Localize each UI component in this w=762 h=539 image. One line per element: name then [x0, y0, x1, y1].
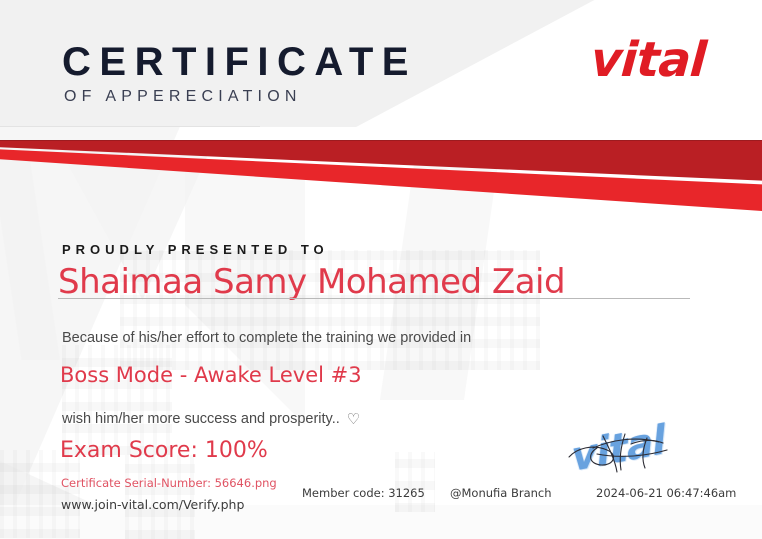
recipient-name: Shaimaa Samy Mohamed Zaid [58, 264, 565, 301]
issued-datetime: 2024-06-21 06:47:46am [596, 488, 736, 500]
certificate-serial: Certificate Serial-Number: 56646.png [61, 478, 277, 490]
page-title: CERTIFICATE [62, 42, 417, 82]
wish-line: wish him/her more success and prosperity… [62, 412, 360, 427]
certificate-page: CERTIFICATE OF APPERECIATION vital PROUD… [0, 0, 762, 539]
verify-url-link[interactable]: www.join-vital.com/Verify.php [61, 499, 244, 512]
course-name: Boss Mode - Awake Level #3 [60, 365, 362, 386]
branch-name: @Monufia Branch [450, 488, 552, 500]
reason-line: Because of his/her effort to complete th… [62, 331, 471, 346]
member-code: Member code: 31265 [302, 488, 425, 500]
presented-to-label: PROUDLY PRESENTED TO [62, 243, 329, 256]
wish-line-text: wish him/her more success and prosperity… [62, 411, 340, 427]
exam-score: Exam Score: 100% [60, 440, 268, 462]
background-hairline [0, 126, 260, 127]
heart-icon: ♡ [347, 412, 360, 427]
vital-logo: vital [590, 36, 708, 84]
page-subtitle: OF APPERECIATION [64, 89, 302, 105]
recipient-underline [58, 298, 690, 299]
